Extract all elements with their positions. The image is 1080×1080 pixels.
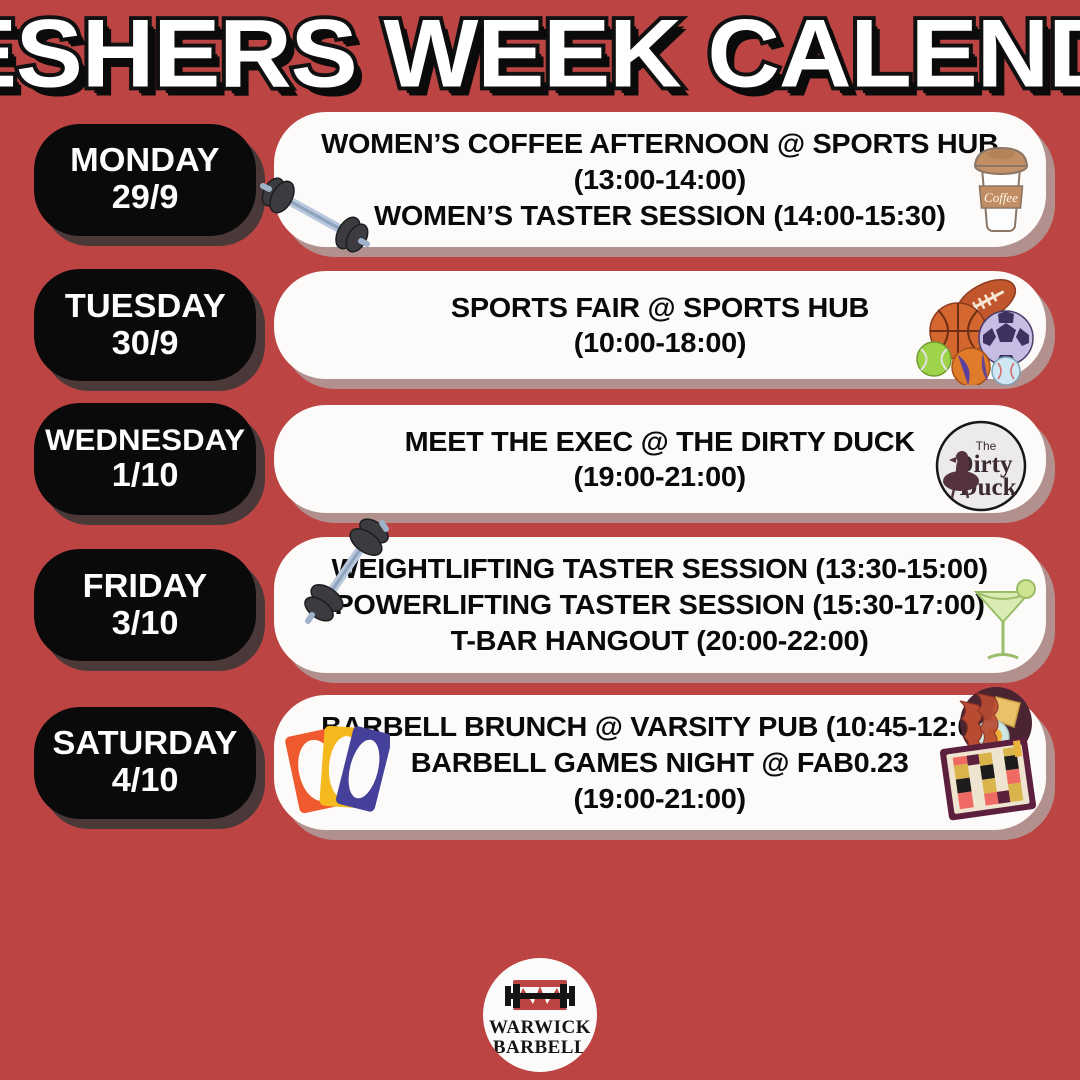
event-line: SPORTS FAIR @ SPORTS HUB	[451, 290, 869, 326]
svg-text:Duck: Duck	[960, 474, 1017, 501]
day-name: TUESDAY	[65, 289, 226, 324]
svg-text:BARBELL: BARBELL	[493, 1037, 587, 1058]
event-line: (19:00-21:00)	[405, 459, 915, 495]
day-pill-saturday[interactable]: SATURDAY 4/10	[34, 707, 256, 819]
day-date: 30/9	[112, 324, 179, 362]
warwick-barbell-logo[interactable]: WARWICK BARBELL	[483, 958, 597, 1072]
day-date: 1/10	[112, 456, 179, 494]
day-date: 3/10	[112, 604, 179, 642]
day-date: 4/10	[112, 761, 179, 799]
event-card-saturday[interactable]: BARBELL BRUNCH @ VARSITY PUB (10:45-12:0…	[274, 695, 1046, 830]
event-line: WEIGHTLIFTING TASTER SESSION (13:30-15:0…	[332, 551, 988, 587]
event-line: POWERLIFTING TASTER SESSION (15:30-17:00…	[332, 587, 988, 623]
calendar-row-saturday: SATURDAY 4/10 BARBELL BRUNCH @ VARSITY P…	[0, 695, 1080, 830]
poster-header: FRESHERS WEEK CALENDAR	[0, 0, 1080, 108]
day-name: FRIDAY	[83, 569, 208, 604]
event-line: WOMEN’S COFFEE AFTERNOON @ SPORTS HUB	[321, 126, 998, 162]
event-card-tuesday[interactable]: SPORTS FAIR @ SPORTS HUB (10:00-18:00)	[274, 271, 1046, 379]
day-name: SATURDAY	[53, 726, 238, 761]
event-card-monday[interactable]: WOMEN’S COFFEE AFTERNOON @ SPORTS HUB (1…	[274, 112, 1046, 247]
event-line: MEET THE EXEC @ THE DIRTY DUCK	[405, 424, 915, 460]
day-pill-monday[interactable]: MONDAY 29/9	[34, 124, 256, 236]
event-card-friday[interactable]: WEIGHTLIFTING TASTER SESSION (13:30-15:0…	[274, 537, 1046, 672]
day-name: MONDAY	[70, 143, 219, 178]
event-line: (13:00-14:00)	[321, 162, 998, 198]
day-date: 29/9	[112, 178, 179, 216]
calendar-row-monday: MONDAY 29/9 WOMEN’S COFFEE AFTERNOON @ S…	[0, 112, 1080, 247]
event-text-block: BARBELL BRUNCH @ VARSITY PUB (10:45-12:0…	[275, 695, 1044, 830]
event-line: WOMEN’S TASTER SESSION (14:00-15:30)	[321, 198, 998, 234]
event-card-wednesday[interactable]: MEET THE EXEC @ THE DIRTY DUCK (19:00-21…	[274, 405, 1046, 513]
page-title: FRESHERS WEEK CALENDAR	[0, 6, 1080, 102]
calendar-row-wednesday: WEDNESDAY 1/10 MEET THE EXEC @ THE DIRTY…	[0, 403, 1080, 515]
event-text-block: MEET THE EXEC @ THE DIRTY DUCK (19:00-21…	[356, 410, 963, 510]
calendar-row-tuesday: TUESDAY 30/9 SPORTS FAIR @ SPORTS HUB (1…	[0, 269, 1080, 381]
day-pill-wednesday[interactable]: WEDNESDAY 1/10	[34, 403, 256, 515]
svg-text:The: The	[976, 439, 997, 453]
day-pill-tuesday[interactable]: TUESDAY 30/9	[34, 269, 256, 381]
event-text-block: SPORTS FAIR @ SPORTS HUB (10:00-18:00)	[401, 276, 919, 376]
svg-text:WARWICK: WARWICK	[489, 1017, 591, 1038]
event-line: BARBELL GAMES NIGHT @ FAB0.23	[322, 745, 999, 781]
svg-text:Dirty: Dirty	[956, 451, 1013, 478]
sports-balls-icon	[914, 275, 1036, 390]
event-text-block: WEIGHTLIFTING TASTER SESSION (13:30-15:0…	[285, 537, 1034, 672]
calendar-rows: MONDAY 29/9 WOMEN’S COFFEE AFTERNOON @ S…	[0, 108, 1080, 830]
day-name: WEDNESDAY	[45, 425, 245, 457]
event-text-block: WOMEN’S COFFEE AFTERNOON @ SPORTS HUB (1…	[275, 112, 1045, 247]
event-line: T-BAR HANGOUT (20:00-22:00)	[332, 623, 988, 659]
footer: WARWICK BARBELL	[0, 958, 1080, 1072]
day-pill-friday[interactable]: FRIDAY 3/10	[34, 549, 256, 661]
event-line: BARBELL BRUNCH @ VARSITY PUB (10:45-12:0…	[322, 709, 999, 745]
event-line: (19:00-21:00)	[322, 781, 999, 817]
event-line: (10:00-18:00)	[451, 325, 869, 361]
calendar-row-friday: FRIDAY 3/10 WEIGHTLIFTING TASTER SESSION…	[0, 537, 1080, 672]
